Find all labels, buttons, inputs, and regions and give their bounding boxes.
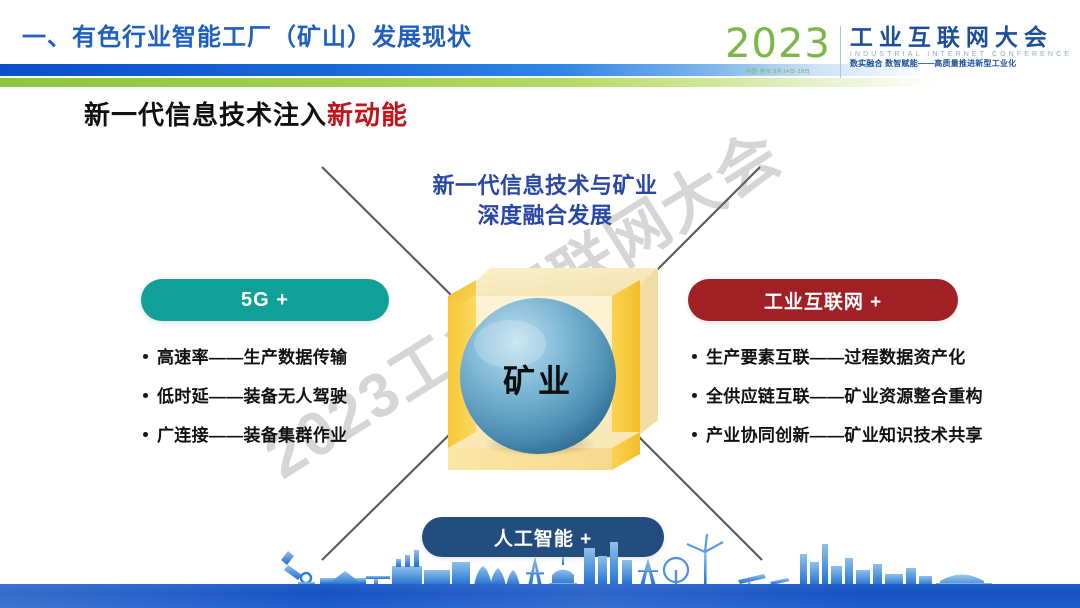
bullet-dot [692, 393, 697, 398]
page-title: 新一代信息技术注入新动能 [84, 95, 408, 132]
page-title-prefix: 新一代信息技术注入 [84, 100, 327, 130]
list-item: 广连接——装备集群作业 [143, 421, 347, 446]
logo-year-block: 2023 中国·常州 8月14日-18日 [725, 24, 840, 75]
bullet-dot [143, 393, 148, 398]
list-item-label: 产业协同创新——矿业知识技术共享 [706, 421, 983, 446]
logo-city-date: 中国·常州 8月14日-18日 [745, 67, 810, 75]
logo-year: 2023 [725, 24, 831, 64]
city-skyline-illustration [0, 526, 1080, 586]
node-industrial-internet-bullets: 生产要素互联——过程数据资产化 全供应链互联——矿业资源整合重构 产业协同创新—… [692, 343, 983, 460]
node-5g-bullets: 高速率——生产数据传输 低时延——装备无人驾驶 广连接——装备集群作业 [143, 343, 347, 460]
list-item: 低时延——装备无人驾驶 [143, 382, 347, 407]
center-title-line-1: 新一代信息技术与矿业 [432, 173, 657, 198]
node-5g-badge[interactable]: 5G + [141, 279, 389, 321]
page-title-highlight: 新动能 [327, 100, 408, 130]
list-item-label: 低时延——装备无人驾驶 [157, 382, 347, 407]
logo-name-block: 工业互联网大会 INDUSTRIAL INTERNET CONFERENCE 数… [850, 24, 1072, 69]
list-item: 产业协同创新——矿业知识技术共享 [692, 421, 983, 446]
logo-slogan: 数实融合 数智赋能——高质量推进新型工业化 [850, 59, 1072, 69]
list-item-label: 广连接——装备集群作业 [157, 421, 347, 446]
bullet-dot [143, 354, 148, 359]
list-item: 高速率——生产数据传输 [143, 343, 347, 368]
list-item-label: 高速率——生产数据传输 [157, 343, 347, 368]
slide: 一、有色行业智能工厂（矿山）发展现状 2023 中国·常州 8月14日-18日 … [0, 0, 1080, 608]
core-label: 矿业 [424, 356, 652, 402]
center-title-line-2: 深度融合发展 [395, 201, 695, 231]
core-cube-graphic: 矿业 [424, 248, 664, 488]
logo-name-en: INDUSTRIAL INTERNET CONFERENCE [850, 50, 1072, 59]
section-title: 一、有色行业智能工厂（矿山）发展现状 [22, 17, 472, 52]
list-item: 全供应链互联——矿业资源整合重构 [692, 382, 983, 407]
logo-name-cn: 工业互联网大会 [850, 24, 1072, 50]
list-item: 生产要素互联——过程数据资产化 [692, 343, 983, 368]
bullet-dot [143, 432, 148, 437]
list-item-label: 生产要素互联——过程数据资产化 [706, 343, 966, 368]
bullet-dot [692, 432, 697, 437]
logo-divider [840, 26, 841, 78]
diagram-center-title: 新一代信息技术与矿业 深度融合发展 [395, 171, 695, 231]
footer-sea-band [0, 584, 1080, 608]
bullet-dot [692, 354, 697, 359]
conference-logo: 2023 中国·常州 8月14日-18日 工业互联网大会 INDUSTRIAL … [725, 24, 1072, 82]
list-item-label: 全供应链互联——矿业资源整合重构 [706, 382, 983, 407]
node-industrial-internet-badge[interactable]: 工业互联网 + [688, 279, 958, 321]
